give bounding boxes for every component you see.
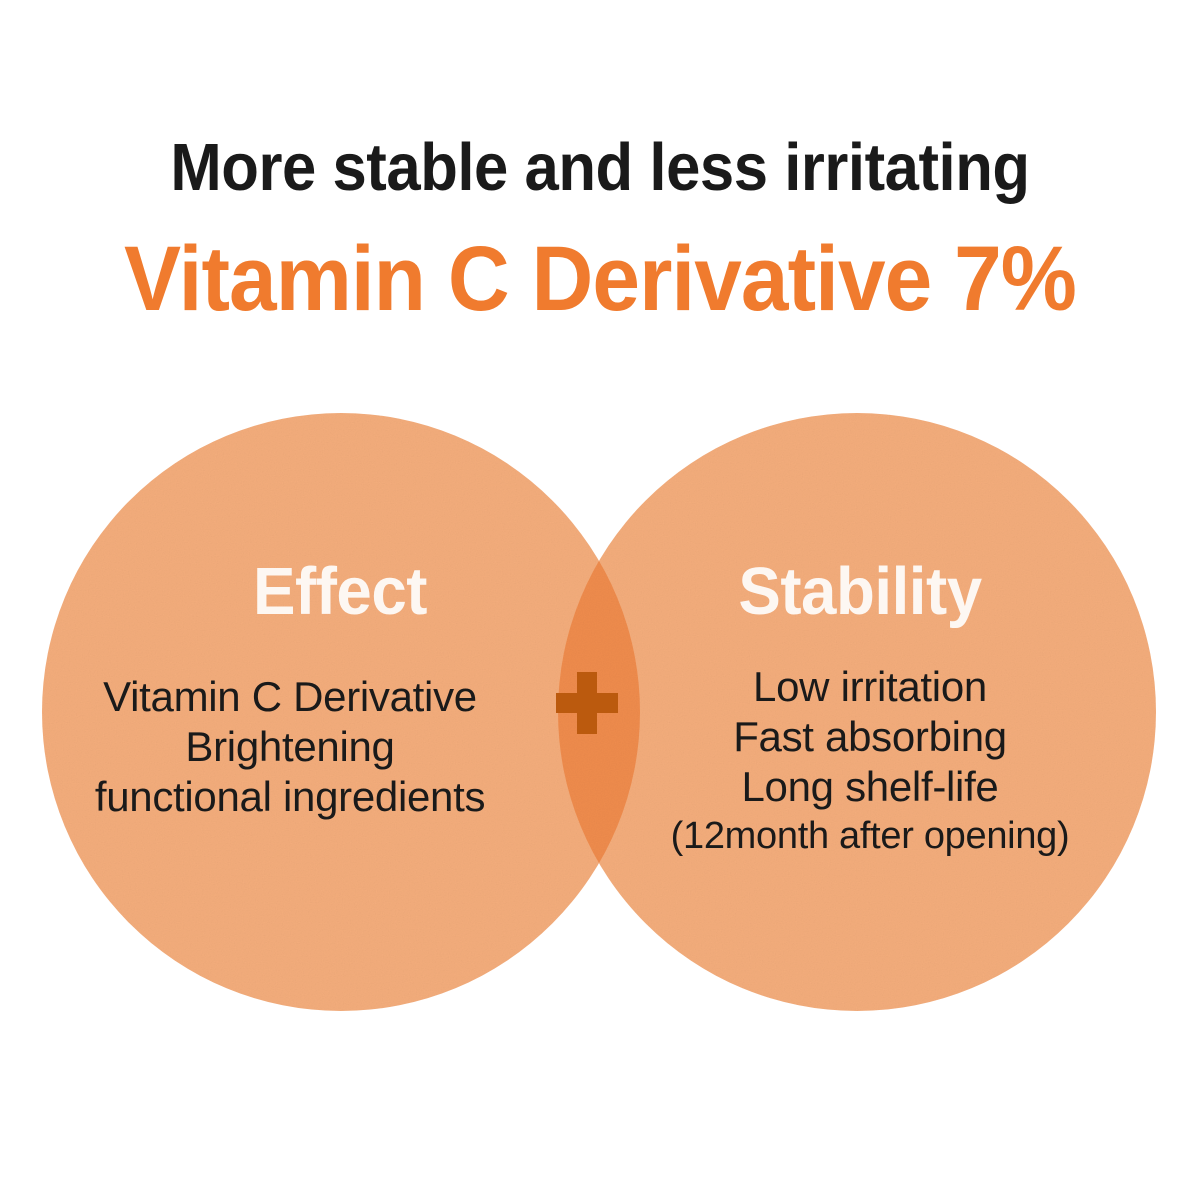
venn-right-line-2: Fast absorbing <box>625 712 1115 762</box>
venn-left-line-3: functional ingredients <box>40 772 540 822</box>
plus-icon <box>556 672 618 734</box>
product-subtitle: Vitamin C Derivative 7% <box>42 233 1158 325</box>
venn-right-title: Stability <box>651 558 1069 625</box>
venn-right-line-3: Long shelf-life <box>625 762 1115 812</box>
plus-icon-vertical-bar <box>577 672 597 734</box>
venn-right-line-1: Low irritation <box>625 662 1115 712</box>
venn-left-title: Effect <box>131 558 549 625</box>
page-title: More stable and less irritating <box>48 134 1152 201</box>
venn-right-line-4: (12month after opening) <box>625 812 1115 860</box>
venn-left-line-1: Vitamin C Derivative <box>40 672 540 722</box>
infographic-canvas: More stable and less irritating Vitamin … <box>0 0 1200 1200</box>
venn-left-line-2: Brightening <box>40 722 540 772</box>
venn-right-body: Low irritation Fast absorbing Long shelf… <box>625 662 1115 860</box>
venn-left-body: Vitamin C Derivative Brightening functio… <box>40 672 540 822</box>
